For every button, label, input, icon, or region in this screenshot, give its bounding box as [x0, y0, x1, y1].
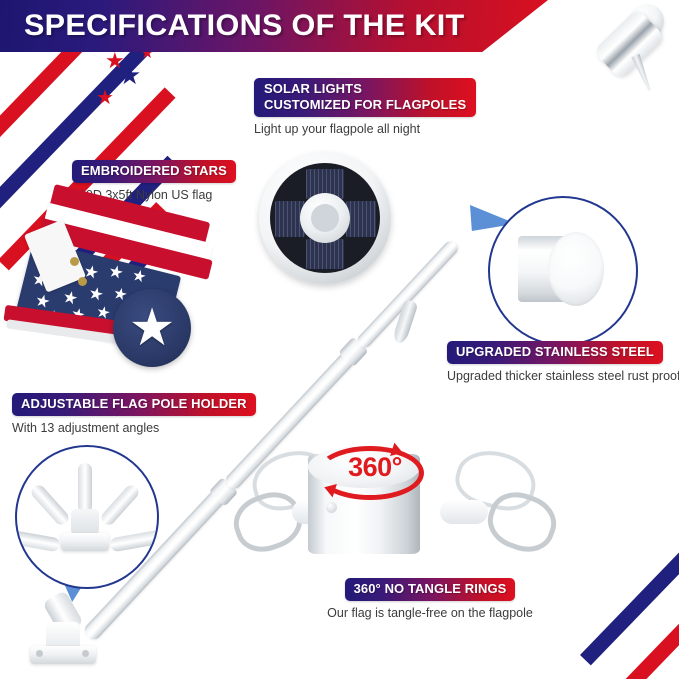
ring-tab-right — [440, 500, 488, 524]
embroidered-star-closeup: ★ — [113, 289, 191, 367]
holder-callout-circle — [15, 445, 159, 589]
steel-tube-end-face — [548, 232, 604, 306]
solar-panel-center-hole — [311, 204, 339, 232]
no-tangle-ring-assembly: 360° — [240, 440, 540, 570]
decor-star-red-upper: ★ — [105, 50, 125, 72]
feature-stainless-steel-title: UPGRADED STAINLESS STEEL — [447, 341, 663, 364]
feature-stainless-steel-subtitle: Upgraded thicker stainless steel rust pr… — [447, 369, 679, 383]
ring-screw — [326, 502, 337, 513]
bracket-screw-hole-1 — [36, 650, 43, 657]
feature-pole-holder-title: ADJUSTABLE FLAG POLE HOLDER — [12, 393, 256, 416]
holder-base-plate — [61, 533, 109, 551]
star-icon: ★ — [129, 302, 176, 354]
feature-embroidered-stars-title: EMBROIDERED STARS — [72, 160, 236, 183]
holder-arm-vertical — [78, 463, 92, 513]
page-title: SPECIFICATIONS OF THE KIT — [0, 9, 465, 43]
feature-no-tangle-rings: 360° NO TANGLE RINGS Our flag is tangle-… — [290, 578, 570, 620]
feature-pole-holder-subtitle: With 13 adjustment angles — [12, 421, 256, 435]
feature-pole-holder: ADJUSTABLE FLAG POLE HOLDER With 13 adju… — [12, 393, 256, 435]
feature-solar-lights: SOLAR LIGHTS CUSTOMIZED FOR FLAGPOLES Li… — [254, 78, 476, 136]
flag-grommet-1 — [70, 257, 79, 266]
holder-hub — [71, 509, 99, 535]
solar-light-stake — [631, 54, 654, 93]
ball-finial-icon — [630, 4, 664, 38]
feature-stainless-steel: UPGRADED STAINLESS STEEL Upgraded thicke… — [447, 341, 679, 383]
solar-cell-right — [346, 201, 376, 237]
steel-callout-circle — [488, 196, 638, 346]
holder-arm-left — [15, 530, 61, 553]
feature-solar-lights-title: SOLAR LIGHTS CUSTOMIZED FOR FLAGPOLES — [254, 78, 476, 117]
infographic-canvas: ★ ★ ★ ★ SPECIFICATIONS OF THE KIT — [0, 0, 679, 679]
wall-mount-bracket — [28, 590, 124, 670]
decor-star-navy: ★ — [118, 62, 141, 88]
feature-no-tangle-rings-title: 360° NO TANGLE RINGS — [345, 578, 516, 601]
flagpole-head-assembly — [578, 2, 678, 92]
feature-no-tangle-rings-subtitle: Our flag is tangle-free on the flagpole — [290, 606, 570, 620]
holder-arm-upper-right — [99, 482, 142, 527]
feature-solar-lights-subtitle: Light up your flagpole all night — [254, 122, 476, 136]
decor-star-red-lower: ★ — [96, 88, 114, 108]
solar-panel-disc — [259, 152, 391, 284]
solar-light-collar — [593, 8, 665, 80]
holder-arm-upper-left — [29, 482, 72, 527]
bracket-screw-hole-2 — [82, 650, 89, 657]
header-banner: SPECIFICATIONS OF THE KIT — [0, 0, 548, 52]
solar-cell-bottom — [306, 239, 344, 269]
flag-grommet-2 — [78, 277, 87, 286]
rotation-badge-label: 360° — [325, 452, 425, 483]
